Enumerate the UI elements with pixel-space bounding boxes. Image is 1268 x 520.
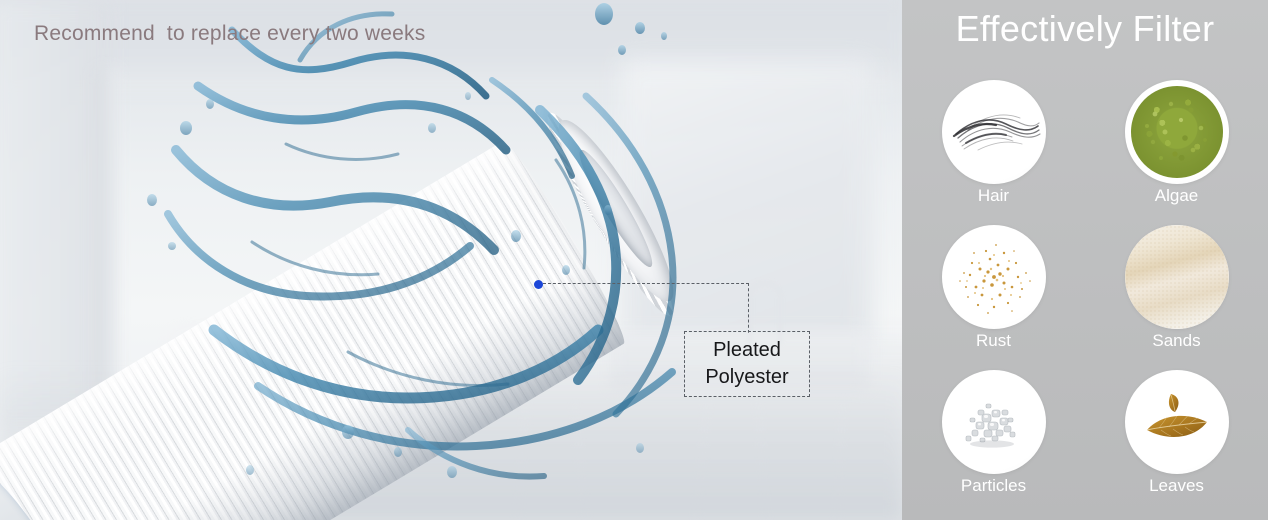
sand-grains [1125,225,1229,329]
hair-icon [942,80,1046,184]
filter-item-label: Rust [976,331,1011,351]
recommendation-text: Recommend to replace every two weeks [34,22,425,46]
leaves-icon [1125,370,1229,474]
filter-item-label: Particles [961,476,1026,496]
filter-item-leaves[interactable]: Leaves [1097,370,1257,515]
rust-icon [942,225,1046,329]
callout-label-line-2: Polyester [705,364,788,391]
particles-icon [942,370,1046,474]
particle-pebbles [942,370,1046,474]
callout-leader-line [543,283,749,284]
filter-item-rust[interactable]: Rust [914,225,1074,370]
filter-item-label: Algae [1155,186,1198,206]
filter-item-label: Hair [978,186,1009,206]
callout-label-box: Pleated Polyester [684,331,810,397]
product-scene: Recommend to replace every two weeks Ple… [0,0,902,520]
filter-item-sands[interactable]: Sands [1097,225,1257,370]
panel-title: Effectively Filter [902,8,1268,50]
product-banner: Recommend to replace every two weeks Ple… [0,0,1268,520]
rust-particles [942,225,1046,329]
filter-item-label: Sands [1152,331,1200,351]
filter-item-label: Leaves [1149,476,1204,496]
algae-icon [1125,80,1229,184]
filter-capability-panel: Effectively Filter [902,0,1268,520]
filter-items-grid: Hair [902,80,1268,515]
callout-label-line-1: Pleated [713,337,781,364]
sands-icon [1125,225,1229,329]
filter-item-algae[interactable]: Algae [1097,80,1257,225]
filter-item-particles[interactable]: Particles [914,370,1074,515]
callout-anchor-dot [534,280,543,289]
filter-item-hair[interactable]: Hair [914,80,1074,225]
callout-leader-line [748,283,749,333]
